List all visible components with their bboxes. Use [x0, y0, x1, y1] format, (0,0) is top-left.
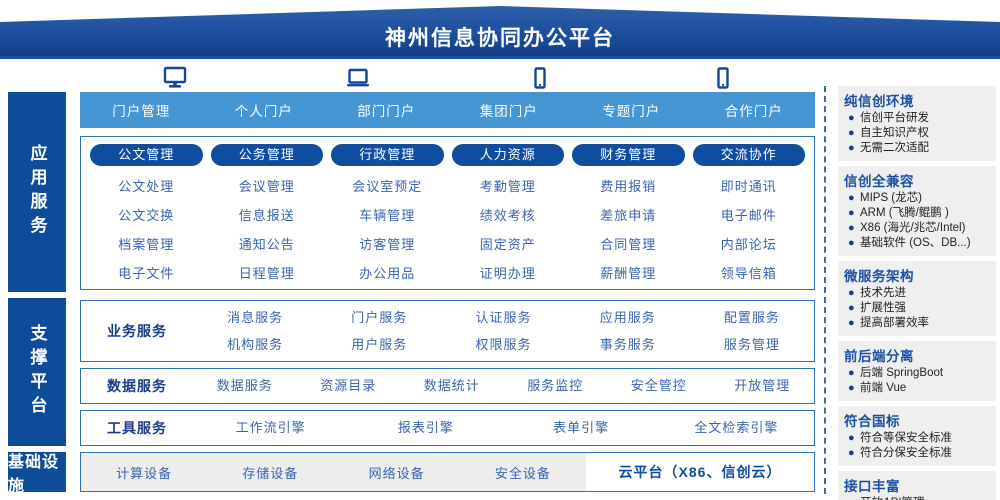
service-item[interactable]: 权限服务 — [441, 331, 565, 358]
service-item[interactable]: 认证服务 — [441, 304, 565, 331]
service-item[interactable]: 消息服务 — [193, 304, 317, 331]
tool-service-row: 工作流引擎 报表引擎 表单引擎 全文检索引擎 — [193, 412, 814, 444]
sidebar-item-text: 技术先进 — [860, 286, 990, 301]
cloud-platform-item[interactable]: 云平台（X86、信创云） — [586, 453, 814, 491]
bullet-icon: ● — [848, 366, 860, 381]
feature-sidebar: 纯信创环境 ● 信创平台研发 ● 自主知识产权 ● 无需二次适配 信创全兼容 ●… — [838, 86, 996, 496]
tool-service-box: 工具服务 工作流引擎 报表引擎 表单引擎 全文检索引擎 — [80, 410, 815, 446]
rail-infrastructure-label: 基础设施 — [8, 448, 66, 496]
bullet-icon: ● — [848, 126, 860, 141]
sidebar-section-title: 微服务架构 — [844, 265, 990, 285]
module-item[interactable]: 会议管理 — [207, 172, 328, 201]
module-item[interactable]: 信息报送 — [207, 201, 328, 230]
sidebar-item-text: 基础软件 (OS、DB...) — [860, 236, 990, 251]
module-column-3: 考勤管理 绩效考核 固定资产 证明办理 — [448, 172, 569, 288]
bullet-icon: ● — [848, 236, 860, 251]
sidebar-list-item: ● 提高部署效率 — [844, 316, 990, 331]
infrastructure-device-group: 计算设备 存储设备 网络设备 安全设备 — [81, 453, 586, 491]
rail-support-label: 支撑平台 — [29, 324, 46, 420]
module-item[interactable]: 会议室预定 — [327, 172, 448, 201]
data-service-row: 数据服务 资源目录 数据统计 服务监控 安全管控 开放管理 — [193, 370, 814, 402]
data-service-box: 数据服务 数据服务 资源目录 数据统计 服务监控 安全管控 开放管理 — [80, 368, 815, 404]
application-service-panel: 公文管理 公务管理 行政管理 人力资源 财务管理 交流协作 公文处理 公文交换 … — [80, 136, 815, 290]
sidebar-list-item: ● 技术先进 — [844, 286, 990, 301]
sidebar-section-title: 前后端分离 — [844, 345, 990, 365]
sidebar-section-title: 接口丰富 — [844, 475, 990, 495]
portal-item-1[interactable]: 个人门户 — [203, 100, 326, 120]
bullet-icon: ● — [848, 286, 860, 301]
module-header-2[interactable]: 行政管理 — [331, 144, 444, 166]
sidebar-list-item: ● 基础软件 (OS、DB...) — [844, 236, 990, 251]
module-item[interactable]: 证明办理 — [448, 259, 569, 288]
bullet-icon: ● — [848, 221, 860, 236]
module-column-5: 即时通讯 电子邮件 内部论坛 领导信箱 — [689, 172, 810, 288]
bullet-icon: ● — [848, 206, 860, 221]
sidebar-list-item: ● 符合分保安全标准 — [844, 446, 990, 461]
service-item[interactable]: 报表引擎 — [348, 412, 503, 444]
sidebar-item-text: 前端 Vue — [860, 381, 990, 396]
sidebar-item-text: 符合等保安全标准 — [860, 431, 990, 446]
module-item[interactable]: 访客管理 — [327, 230, 448, 259]
module-item[interactable]: 通知公告 — [207, 230, 328, 259]
service-item[interactable]: 服务监控 — [504, 370, 608, 402]
infrastructure-item[interactable]: 计算设备 — [81, 463, 207, 482]
sidebar-section-1: 信创全兼容 ● MIPS (龙芯) ● ARM (飞腾/鲲鹏 ) ● X86 (… — [838, 166, 996, 256]
module-item[interactable]: 电子邮件 — [689, 201, 810, 230]
service-item[interactable]: 表单引擎 — [504, 412, 659, 444]
service-item[interactable]: 数据服务 — [193, 370, 297, 402]
business-service-box: 业务服务 消息服务 门户服务 认证服务 应用服务 配置服务 机构服务 用户服务 … — [80, 300, 815, 362]
sidebar-list-item: ● 无需二次适配 — [844, 141, 990, 156]
sidebar-item-text: 后端 SpringBoot — [860, 366, 990, 381]
module-item[interactable]: 内部论坛 — [689, 230, 810, 259]
module-column-2: 会议室预定 车辆管理 访客管理 办公用品 — [327, 172, 448, 288]
tool-service-label: 工具服务 — [81, 418, 193, 438]
sidebar-list-item: ● 开放API管理 — [844, 496, 990, 500]
rail-infrastructure: 基础设施 — [8, 452, 66, 492]
bullet-icon: ● — [848, 191, 860, 206]
sidebar-section-5: 接口丰富 ● 开放API管理 — [838, 471, 996, 500]
sidebar-section-2: 微服务架构 ● 技术先进 ● 扩展性强 ● 提高部署效率 — [838, 261, 996, 336]
sidebar-item-text: 符合分保安全标准 — [860, 446, 990, 461]
bullet-icon: ● — [848, 496, 860, 500]
module-item[interactable]: 薪酬管理 — [568, 259, 689, 288]
module-item[interactable]: 即时通讯 — [689, 172, 810, 201]
sidebar-item-text: 扩展性强 — [860, 301, 990, 316]
header-banner: 神州信息协同办公平台 — [0, 0, 1000, 60]
vertical-dashed-divider — [824, 86, 826, 494]
sidebar-item-text: X86 (海光/兆芯/Intel) — [860, 221, 990, 236]
service-item[interactable]: 资源目录 — [297, 370, 401, 402]
data-service-label: 数据服务 — [81, 376, 193, 396]
sidebar-section-0: 纯信创环境 ● 信创平台研发 ● 自主知识产权 ● 无需二次适配 — [838, 86, 996, 161]
tool-service-body: 工作流引擎 报表引擎 表单引擎 全文检索引擎 — [193, 412, 814, 444]
service-item[interactable]: 服务管理 — [690, 331, 814, 358]
rail-application-label: 应用服务 — [29, 144, 46, 240]
infrastructure-item[interactable]: 安全设备 — [460, 463, 586, 482]
portal-item-4[interactable]: 专题门户 — [570, 100, 693, 120]
service-item[interactable]: 数据统计 — [400, 370, 504, 402]
service-item[interactable]: 用户服务 — [317, 331, 441, 358]
module-header-row: 公文管理 公务管理 行政管理 人力资源 财务管理 交流协作 — [86, 144, 809, 166]
desktop-icon — [145, 64, 205, 90]
service-item[interactable]: 机构服务 — [193, 331, 317, 358]
module-header-4[interactable]: 财务管理 — [572, 144, 685, 166]
business-service-row-1: 机构服务 用户服务 权限服务 事务服务 服务管理 — [193, 331, 814, 358]
infrastructure-item[interactable]: 存储设备 — [207, 463, 333, 482]
laptop-icon — [328, 64, 388, 90]
sidebar-item-text: ARM (飞腾/鲲鹏 ) — [860, 206, 990, 221]
bullet-icon: ● — [848, 446, 860, 461]
module-item[interactable]: 档案管理 — [86, 230, 207, 259]
sidebar-list-item: ● 符合等保安全标准 — [844, 431, 990, 446]
sidebar-item-text: 开放API管理 — [860, 496, 990, 500]
module-item[interactable]: 固定资产 — [448, 230, 569, 259]
sidebar-item-text: 提高部署效率 — [860, 316, 990, 331]
module-item[interactable]: 车辆管理 — [327, 201, 448, 230]
module-item[interactable]: 差旅申请 — [568, 201, 689, 230]
infrastructure-box: 计算设备 存储设备 网络设备 安全设备 云平台（X86、信创云） — [80, 452, 815, 492]
sidebar-section-3: 前后端分离 ● 后端 SpringBoot ● 前端 Vue — [838, 341, 996, 401]
portal-item-2[interactable]: 部门门户 — [325, 100, 448, 120]
module-item[interactable]: 日程管理 — [207, 259, 328, 288]
service-item[interactable]: 配置服务 — [690, 304, 814, 331]
sidebar-item-text: 信创平台研发 — [860, 111, 990, 126]
service-item[interactable]: 开放管理 — [711, 370, 815, 402]
sidebar-section-title: 纯信创环境 — [844, 90, 990, 110]
bullet-icon: ● — [848, 431, 860, 446]
bullet-icon: ● — [848, 141, 860, 156]
module-header-3[interactable]: 人力资源 — [452, 144, 565, 166]
portal-item-5[interactable]: 合作门户 — [693, 100, 816, 120]
sidebar-section-4: 符合国标 ● 符合等保安全标准 ● 符合分保安全标准 — [838, 406, 996, 466]
bullet-icon: ● — [848, 111, 860, 126]
module-item[interactable]: 公文处理 — [86, 172, 207, 201]
sidebar-item-text: 自主知识产权 — [860, 126, 990, 141]
module-item[interactable]: 公文交换 — [86, 201, 207, 230]
service-item[interactable]: 工作流引擎 — [193, 412, 348, 444]
portal-bar: 门户管理 个人门户 部门门户 集团门户 专题门户 合作门户 — [80, 92, 815, 128]
service-item[interactable]: 全文检索引擎 — [659, 412, 814, 444]
bullet-icon: ● — [848, 381, 860, 396]
service-item[interactable]: 门户服务 — [317, 304, 441, 331]
phone-icon — [510, 64, 570, 90]
module-header-5[interactable]: 交流协作 — [693, 144, 806, 166]
infrastructure-item[interactable]: 网络设备 — [334, 463, 460, 482]
sidebar-list-item: ● 扩展性强 — [844, 301, 990, 316]
module-item[interactable]: 费用报销 — [568, 172, 689, 201]
service-item[interactable]: 安全管控 — [607, 370, 711, 402]
page-title: 神州信息协同办公平台 — [0, 22, 1000, 52]
module-header-1[interactable]: 公务管理 — [211, 144, 324, 166]
sidebar-list-item: ● X86 (海光/兆芯/Intel) — [844, 221, 990, 236]
sidebar-list-item: ● MIPS (龙芯) — [844, 191, 990, 206]
service-item[interactable]: 事务服务 — [566, 331, 690, 358]
module-item[interactable]: 绩效考核 — [448, 201, 569, 230]
bullet-icon: ● — [848, 301, 860, 316]
module-header-0[interactable]: 公文管理 — [90, 144, 203, 166]
sidebar-list-item: ● 自主知识产权 — [844, 126, 990, 141]
device-icon-row — [84, 62, 814, 90]
sidebar-list-item: ● 后端 SpringBoot — [844, 366, 990, 381]
rail-support-platform: 支撑平台 — [8, 298, 66, 446]
sidebar-list-item: ● 信创平台研发 — [844, 111, 990, 126]
rail-application-service: 应用服务 — [8, 92, 66, 292]
module-grid: 公文处理 公文交换 档案管理 电子文件 会议管理 信息报送 通知公告 日程管理 … — [86, 172, 809, 288]
module-column-1: 会议管理 信息报送 通知公告 日程管理 — [207, 172, 328, 288]
sidebar-item-text: 无需二次适配 — [860, 141, 990, 156]
sidebar-list-item: ● ARM (飞腾/鲲鹏 ) — [844, 206, 990, 221]
module-column-4: 费用报销 差旅申请 合同管理 薪酬管理 — [568, 172, 689, 288]
module-item[interactable]: 合同管理 — [568, 230, 689, 259]
sidebar-item-text: MIPS (龙芯) — [860, 191, 990, 206]
module-item[interactable]: 考勤管理 — [448, 172, 569, 201]
tablet-icon — [693, 64, 753, 90]
portal-item-3[interactable]: 集团门户 — [448, 100, 571, 120]
module-item[interactable]: 电子文件 — [86, 259, 207, 288]
service-item[interactable]: 应用服务 — [566, 304, 690, 331]
sidebar-list-item: ● 前端 Vue — [844, 381, 990, 396]
module-item[interactable]: 领导信箱 — [689, 259, 810, 288]
module-column-0: 公文处理 公文交换 档案管理 电子文件 — [86, 172, 207, 288]
portal-item-0[interactable]: 门户管理 — [80, 100, 203, 120]
data-service-body: 数据服务 资源目录 数据统计 服务监控 安全管控 开放管理 — [193, 370, 814, 402]
bullet-icon: ● — [848, 316, 860, 331]
business-service-row-0: 消息服务 门户服务 认证服务 应用服务 配置服务 — [193, 304, 814, 331]
sidebar-section-title: 符合国标 — [844, 410, 990, 430]
architecture-diagram: 神州信息协同办公平台 — [0, 0, 1000, 500]
business-service-body: 消息服务 门户服务 认证服务 应用服务 配置服务 机构服务 用户服务 权限服务 … — [193, 304, 814, 358]
module-item[interactable]: 办公用品 — [327, 259, 448, 288]
sidebar-section-title: 信创全兼容 — [844, 170, 990, 190]
business-service-label: 业务服务 — [81, 321, 193, 341]
